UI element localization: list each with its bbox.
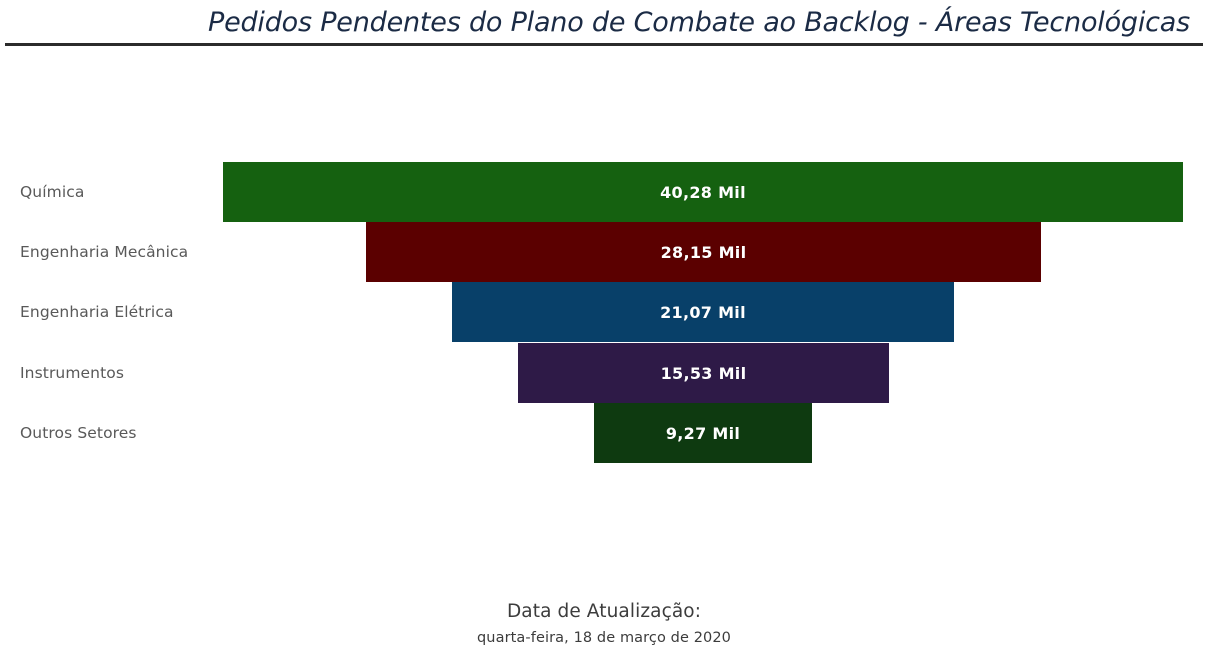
funnel-bar[interactable]: 15,53 Mil <box>518 343 889 403</box>
footer: Data de Atualização: quarta-feira, 18 de… <box>0 598 1208 650</box>
update-date-label: Data de Atualização: <box>0 598 1208 626</box>
funnel-bar[interactable]: 21,07 Mil <box>452 282 954 342</box>
bar-value-label: 40,28 Mil <box>660 183 746 202</box>
funnel-row: Química40,28 Mil <box>0 162 1208 222</box>
bar-value-label: 9,27 Mil <box>666 424 740 443</box>
funnel-chart: Química40,28 MilEngenharia Mecânica28,15… <box>0 0 1208 662</box>
category-label: Engenharia Elétrica <box>20 282 174 342</box>
funnel-bar[interactable]: 40,28 Mil <box>223 162 1183 222</box>
funnel-row: Engenharia Elétrica21,07 Mil <box>0 282 1208 342</box>
funnel-row: Instrumentos15,53 Mil <box>0 343 1208 403</box>
category-label: Instrumentos <box>20 343 124 403</box>
category-label: Outros Setores <box>20 403 137 463</box>
bar-value-label: 21,07 Mil <box>660 303 746 322</box>
bar-value-label: 28,15 Mil <box>661 243 747 262</box>
funnel-row: Outros Setores9,27 Mil <box>0 403 1208 463</box>
funnel-bar[interactable]: 28,15 Mil <box>366 222 1041 282</box>
category-label: Engenharia Mecânica <box>20 222 188 282</box>
funnel-row: Engenharia Mecânica28,15 Mil <box>0 222 1208 282</box>
funnel-bar[interactable]: 9,27 Mil <box>594 403 812 463</box>
category-label: Química <box>20 162 84 222</box>
update-date-value: quarta-feira, 18 de março de 2020 <box>0 626 1208 650</box>
bar-value-label: 15,53 Mil <box>661 364 747 383</box>
